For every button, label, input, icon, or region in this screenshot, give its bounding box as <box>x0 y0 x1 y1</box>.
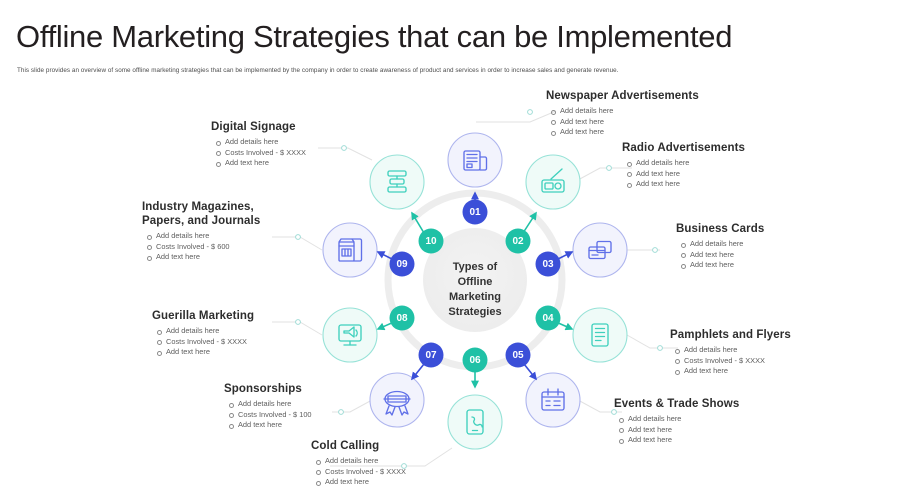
strategy-title-09-line-1: Industry Magazines, <box>142 200 260 214</box>
strategy-title-02: Radio Advertisements <box>622 141 745 155</box>
bullet: Add details here <box>156 231 260 242</box>
bullet: Add text here <box>636 169 745 180</box>
bullet: Add text here <box>690 260 764 271</box>
strategy-title-04: Pamphlets and Flyers <box>670 328 791 342</box>
svg-text:08: 08 <box>396 313 408 324</box>
strategy-title-08: Guerilla Marketing <box>152 309 254 323</box>
bullet: Add text here <box>225 158 306 169</box>
slide-canvas: Offline Marketing Strategies that can be… <box>0 0 900 500</box>
bullet: Add details here <box>225 137 306 148</box>
strategy-block-01: Newspaper Advertisements Add details her… <box>546 89 699 138</box>
strategy-bullets-10: Add details here Costs Involved - $ XXXX… <box>211 137 306 169</box>
bullet: Add details here <box>684 345 791 356</box>
node-01-newspaper[interactable]: 01 <box>448 133 502 225</box>
strategy-bullets-02: Add details here Add text here Add text … <box>622 158 745 190</box>
bullet: Add text here <box>690 250 764 261</box>
bullet: Add details here <box>238 399 312 410</box>
strategy-block-10: Digital Signage Add details here Costs I… <box>211 120 306 169</box>
node-05-events[interactable]: 05 <box>506 343 581 428</box>
bullet: Costs Involved - $ XXXX <box>684 356 791 367</box>
svg-text:03: 03 <box>542 259 554 270</box>
svg-text:02: 02 <box>512 236 524 247</box>
strategy-title-09-line-2: Papers, and Journals <box>142 214 260 228</box>
strategy-block-08: Guerilla Marketing Add details here Cost… <box>152 309 254 358</box>
bullet: Add details here <box>636 158 745 169</box>
bullet: Add text here <box>636 179 745 190</box>
bullet: Add details here <box>690 239 764 250</box>
strategy-title-05: Events & Trade Shows <box>614 397 739 411</box>
svg-text:04: 04 <box>542 313 554 324</box>
bullet: Costs Involved - $ XXXX <box>225 148 306 159</box>
strategy-bullets-07: Add details here Costs Involved - $ 100 … <box>224 399 312 431</box>
bullet: Add text here <box>166 347 254 358</box>
svg-text:10: 10 <box>425 236 437 247</box>
bullet: Add details here <box>325 456 406 467</box>
strategy-block-03: Business Cards Add details here Add text… <box>676 222 764 271</box>
strategy-block-05: Events & Trade Shows Add details here Ad… <box>614 397 739 446</box>
strategy-block-09: Industry Magazines, Papers, and Journals… <box>142 200 260 263</box>
strategy-title-10: Digital Signage <box>211 120 306 134</box>
strategy-bullets-09: Add details here Costs Involved - $ 600 … <box>142 231 260 263</box>
node-07-sponsorships[interactable]: 07 <box>370 343 444 428</box>
strategy-title-07: Sponsorships <box>224 382 312 396</box>
center-label-line-2: Offline <box>458 276 493 288</box>
center-label-line-3: Marketing <box>449 291 501 303</box>
strategy-block-04: Pamphlets and Flyers Add details here Co… <box>670 328 791 377</box>
strategy-block-07: Sponsorships Add details here Costs Invo… <box>224 382 312 431</box>
svg-text:09: 09 <box>396 259 408 270</box>
bullet: Add details here <box>166 326 254 337</box>
strategy-title-03: Business Cards <box>676 222 764 236</box>
strategy-bullets-06: Add details here Costs Involved - $ XXXX… <box>311 456 406 488</box>
strategy-block-02: Radio Advertisements Add details here Ad… <box>622 141 745 190</box>
strategy-bullets-05: Add details here Add text here Add text … <box>614 414 739 446</box>
bullet: Add text here <box>560 127 699 138</box>
svg-text:05: 05 <box>512 350 524 361</box>
node-08-guerilla-marketing[interactable]: 08 <box>323 306 415 363</box>
bullet: Add details here <box>628 414 739 425</box>
bullet: Costs Involved - $ 600 <box>156 242 260 253</box>
strategy-bullets-04: Add details here Costs Involved - $ XXXX… <box>670 345 791 377</box>
strategy-wheel-diagram: .ringpath{fill:none;stroke:#ededed;strok… <box>0 0 900 500</box>
bullet: Costs Involved - $ XXXX <box>325 467 406 478</box>
strategy-title-06: Cold Calling <box>311 439 406 453</box>
bullet: Add text here <box>325 477 406 488</box>
bullet: Costs Involved - $ XXXX <box>166 337 254 348</box>
bullet: Add text here <box>684 366 791 377</box>
svg-text:06: 06 <box>469 355 481 366</box>
strategy-block-06: Cold Calling Add details here Costs Invo… <box>311 439 406 488</box>
svg-text:07: 07 <box>425 350 437 361</box>
strategy-bullets-03: Add details here Add text here Add text … <box>676 239 764 271</box>
bullet: Add text here <box>628 425 739 436</box>
bullet: Add text here <box>156 252 260 263</box>
bullet: Add details here <box>560 106 699 117</box>
bullet: Add text here <box>238 420 312 431</box>
bullet: Add text here <box>560 117 699 128</box>
strategy-bullets-01: Add details here Add text here Add text … <box>546 106 699 138</box>
center-label-line-1: Types of <box>453 261 498 273</box>
svg-text:01: 01 <box>469 207 481 218</box>
center-label-line-4: Strategies <box>448 306 501 318</box>
strategy-title-01: Newspaper Advertisements <box>546 89 699 103</box>
bullet: Add text here <box>628 435 739 446</box>
bullet: Costs Involved - $ 100 <box>238 410 312 421</box>
strategy-bullets-08: Add details here Costs Involved - $ XXXX… <box>152 326 254 358</box>
node-04-pamphlets[interactable]: 04 <box>536 306 628 363</box>
